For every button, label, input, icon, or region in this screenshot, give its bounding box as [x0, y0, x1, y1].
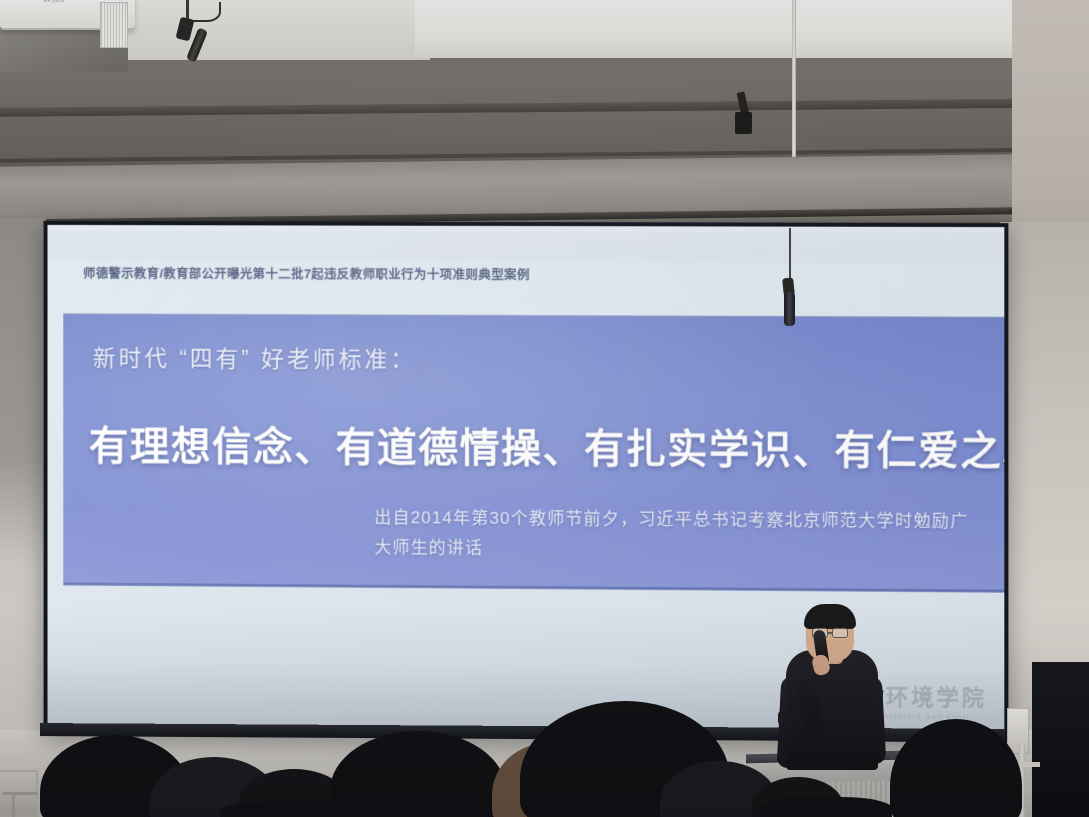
slide-header-rule [48, 231, 1005, 264]
equipment-rack-shelf [2, 792, 38, 795]
lecture-hall-photo: EPSON 师德警示教育/教育部公开曝光第十二批7起违反教师职业行为十项准则典型… [0, 0, 1089, 817]
slide-headline: 有理想信念、有道德情操、有扎实学识、有仁爱之心 [89, 414, 1004, 477]
speaker-glasses-right-lens-icon [832, 628, 848, 638]
speaker-hair [804, 604, 856, 629]
ceiling-camera-icon [735, 112, 752, 134]
audience-shoulders [220, 801, 370, 817]
right-dark-panel [1032, 662, 1089, 817]
ceiling-panel-right [415, 0, 1089, 58]
equipment-rack-leg [12, 795, 15, 817]
upper-right-wall [1012, 0, 1089, 230]
slide-attribution: 出自2014年第30个教师节前夕，习近平总书记考察北京师范大学时勉励广大师生的讲… [374, 503, 977, 567]
projector-vent-icon [100, 2, 128, 48]
audience-shoulders [760, 797, 892, 817]
speaker-glasses-bridge [827, 632, 833, 634]
slide-header-text: 师德警示教育/教育部公开曝光第十二批7起违反教师职业行为十项准则典型案例 [83, 263, 847, 284]
ceiling-mic-cable [193, 2, 221, 22]
hanging-microphone-icon [784, 292, 795, 326]
projector-brand-label: EPSON [44, 0, 65, 4]
slide-subtitle: 新时代 “四有” 好老师标准： [93, 339, 416, 374]
ceiling-conduit [792, 0, 796, 172]
